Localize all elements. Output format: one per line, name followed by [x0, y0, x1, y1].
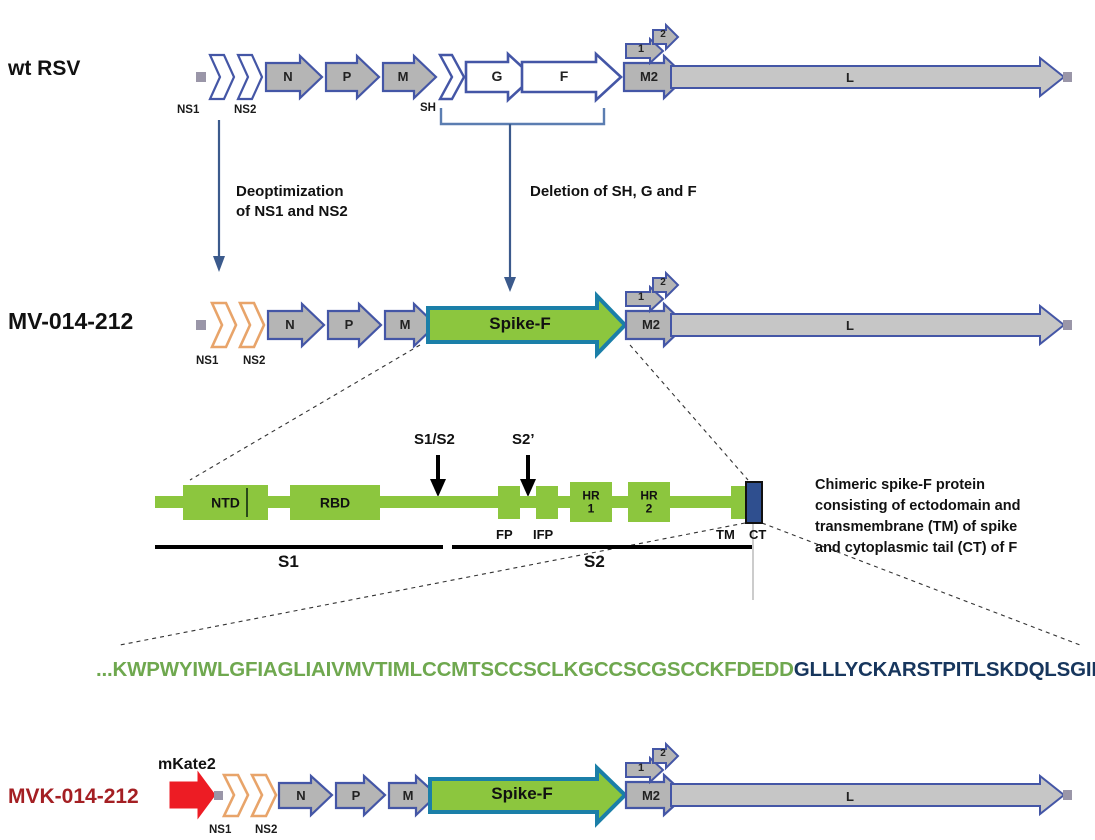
mvk-gene-label-l: L: [830, 789, 870, 804]
hr2-line2: 2: [628, 502, 670, 515]
mvk-gene-label-m2-2: 2: [655, 748, 671, 759]
gene-label-p: P: [328, 69, 366, 84]
mvk-reporter-label: mKate2: [158, 756, 216, 774]
cleavage-site-label-s1s2: S1/S2: [414, 431, 455, 448]
gene-label-g: G: [468, 68, 526, 84]
protein-domain-ntd-label: NTD: [183, 495, 268, 510]
ntd-divider-tick: [246, 488, 248, 517]
protein-domain-fp-caption: FP: [496, 527, 513, 542]
mvk-gene-caption-ns1: NS1: [209, 824, 231, 836]
mv-genome-trailer-nub: [1063, 320, 1072, 330]
mvk-gene-label-spike-f: Spike-F: [432, 784, 612, 804]
protein-description-line-3: transmembrane (TM) of spike: [815, 517, 1085, 538]
protein-domain-hr2-label: HR 2: [628, 489, 670, 514]
genome-leader-nub: [196, 72, 206, 82]
seq-connector-left: [120, 523, 745, 645]
gene-label-n: N: [268, 69, 308, 84]
mv-gene-label-p: P: [330, 317, 368, 332]
annotation-deoptimization: Deoptimization of NS1 and NS2: [236, 182, 348, 223]
figure-canvas: wt RSV MV-014-212 MVK-014-212 N P M G F …: [0, 0, 1095, 840]
protein-domain-hr2: HR 2: [628, 482, 670, 522]
annotation-deoptimization-line1: Deoptimization: [236, 182, 348, 202]
mv-gene-label-l: L: [830, 318, 870, 333]
s1s2-arrow-head: [430, 479, 446, 497]
gene-label-m: M: [385, 69, 421, 84]
mv-gene-label-m2: M2: [630, 317, 672, 332]
mv-gene-arrow-ns1: [212, 303, 236, 347]
mvk-gene-label-p: P: [337, 788, 375, 803]
hr2-line1: HR: [628, 489, 670, 502]
protein-domain-rbd-label: RBD: [290, 495, 380, 510]
protein-domain-hr1: HR 1: [570, 482, 612, 522]
zoom-connector-left: [190, 345, 420, 480]
mvk-gene-label-m: M: [391, 788, 425, 803]
gene-label-f: F: [525, 68, 603, 84]
chimeric-junction-sequence: ...KWPWYIWLGFIAGLIAIVMVTIMLCCMTSCCSCLKGC…: [96, 658, 1095, 682]
gene-label-l: L: [830, 70, 870, 85]
protein-domain-ifp-caption: IFP: [533, 527, 553, 542]
subunit-bar-s1: [155, 545, 443, 549]
subunit-bar-s2: [452, 545, 752, 549]
mvk-gene-label-m2: M2: [630, 788, 672, 803]
diagram-vector-layer: [0, 0, 1095, 840]
mv-gene-caption-ns2: NS2: [243, 355, 265, 367]
deletion-bracket: [441, 108, 604, 124]
protein-description-line-4: and cytoplasmic tail (CT) of F: [815, 538, 1085, 559]
protein-domain-rbd: RBD: [290, 485, 380, 520]
protein-domain-ifp: [536, 486, 558, 519]
mvk-gene-label-n: N: [281, 788, 321, 803]
gene-label-m2-2: 2: [655, 29, 671, 40]
gene-caption-ns1: NS1: [177, 104, 199, 116]
deletion-arrow-head: [504, 277, 516, 292]
row-label-mv-014-212: MV-014-212: [8, 308, 133, 335]
gene-caption-sh: SH: [420, 102, 436, 114]
mv-gene-label-n: N: [270, 317, 310, 332]
protein-domain-ct-caption: CT: [749, 527, 766, 542]
cleavage-site-label-s2prime: S2’: [512, 431, 535, 448]
row-label-mvk-014-212: MVK-014-212: [8, 785, 139, 809]
mvk-gene-arrow-ns1: [224, 775, 248, 816]
mv-gene-label-spike-f: Spike-F: [430, 314, 610, 334]
mv-gene-label-m: M: [387, 317, 423, 332]
hr1-line1: HR: [570, 489, 612, 502]
mvk-gene-label-m2-1: 1: [630, 762, 652, 774]
mvk-gene-caption-ns2: NS2: [255, 824, 277, 836]
mvk-genome-trailer-nub: [1063, 790, 1072, 800]
sequence-spike-segment: ...KWPWYIWLGFIAGLIAIVMVTIMLCCMTSCCSCLKGC…: [96, 658, 794, 681]
hr1-line2: 1: [570, 502, 612, 515]
protein-domain-tm-caption: TM: [716, 527, 735, 542]
s2prime-arrow-head: [520, 479, 536, 497]
mv-gene-arrow-ns2: [240, 303, 264, 347]
protein-description: Chimeric spike-F protein consisting of e…: [815, 475, 1085, 559]
gene-arrow-sh: [440, 55, 464, 99]
zoom-connector-right: [630, 345, 748, 480]
sequence-f-segment: GLLLYCKARSTPITLSKDQLSGINNIAFSN: [794, 658, 1095, 681]
annotation-deoptimization-line2: of NS1 and NS2: [236, 202, 348, 222]
annotation-deletion: Deletion of SH, G and F: [530, 182, 697, 202]
mvk-gene-arrow-mkate2: [170, 772, 215, 818]
gene-arrow-ns2: [238, 55, 262, 99]
deoptimization-arrow-head: [213, 256, 225, 272]
gene-label-m2-1: 1: [630, 43, 652, 55]
mv-gene-label-m2-2: 2: [655, 277, 671, 288]
gene-label-m2: M2: [628, 69, 670, 84]
mv-gene-label-m2-1: 1: [630, 291, 652, 303]
gene-arrow-ns1: [210, 55, 234, 99]
subunit-label-s2: S2: [584, 552, 605, 572]
row-label-wt-rsv: wt RSV: [8, 57, 80, 81]
protein-description-line-1: Chimeric spike-F protein: [815, 475, 1085, 496]
mv-genome-leader-nub: [196, 320, 206, 330]
protein-domain-hr1-label: HR 1: [570, 489, 612, 514]
mv-gene-caption-ns1: NS1: [196, 355, 218, 367]
gene-caption-ns2: NS2: [234, 104, 256, 116]
mvk-gene-arrow-ns2: [252, 775, 276, 816]
genome-trailer-nub: [1063, 72, 1072, 82]
subunit-label-s1: S1: [278, 552, 299, 572]
protein-domain-fp: [498, 486, 520, 519]
protein-description-line-2: consisting of ectodomain and: [815, 496, 1085, 517]
protein-domain-ntd: NTD: [183, 485, 268, 520]
protein-domain-ct: [745, 481, 763, 524]
mvk-genome-leader-nub: [214, 791, 223, 800]
